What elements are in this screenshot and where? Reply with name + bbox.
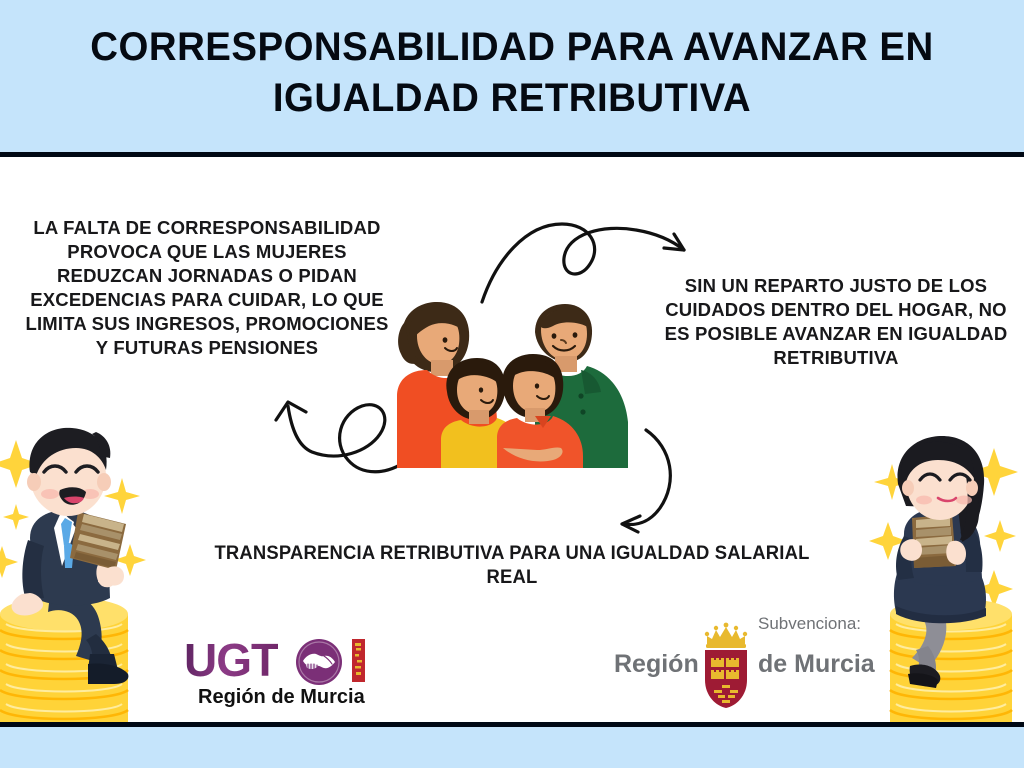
family-of-four-illustration <box>385 296 640 468</box>
businessman-on-coin-stack-illustration <box>0 418 172 768</box>
ugt-logo[interactable]: UGT <box>184 636 392 720</box>
ugt-wordmark: UGT <box>184 636 278 684</box>
message-bottom: TRANSPARENCIA RETRIBUTIVA PARA UNA IGUAL… <box>192 542 832 591</box>
infographic-poster: CORRESPONSABILIDAD PARA AVANZAR EN IGUAL… <box>0 0 1024 768</box>
murcia-shield-icon <box>700 618 752 708</box>
message-left: LA FALTA DE CORRESPONSABILIDAD PROVOCA Q… <box>18 216 396 360</box>
region-de-murcia-logo[interactable]: Subvenciona: Región <box>596 612 896 712</box>
sponsor-label: Subvenciona: <box>758 614 861 634</box>
murcia-region-word: Región <box>614 650 699 679</box>
curly-arrow-top-right-icon <box>478 212 694 306</box>
footer-band <box>0 727 1024 768</box>
businesswoman-on-coin-stack-illustration <box>866 430 1024 768</box>
message-right: SIN UN REPARTO JUSTO DE LOS CUIDADOS DEN… <box>655 274 1017 370</box>
man-head <box>27 428 111 516</box>
crown <box>705 623 747 648</box>
page-title: CORRESPONSABILIDAD PARA AVANZAR EN IGUAL… <box>59 22 965 124</box>
ugt-red-bar-icon <box>352 639 365 682</box>
murcia-de-murcia-word: de Murcia <box>758 650 875 679</box>
ugt-subtitle: Región de Murcia <box>198 686 365 709</box>
handshake-icon <box>296 639 342 685</box>
header-divider <box>0 152 1024 157</box>
